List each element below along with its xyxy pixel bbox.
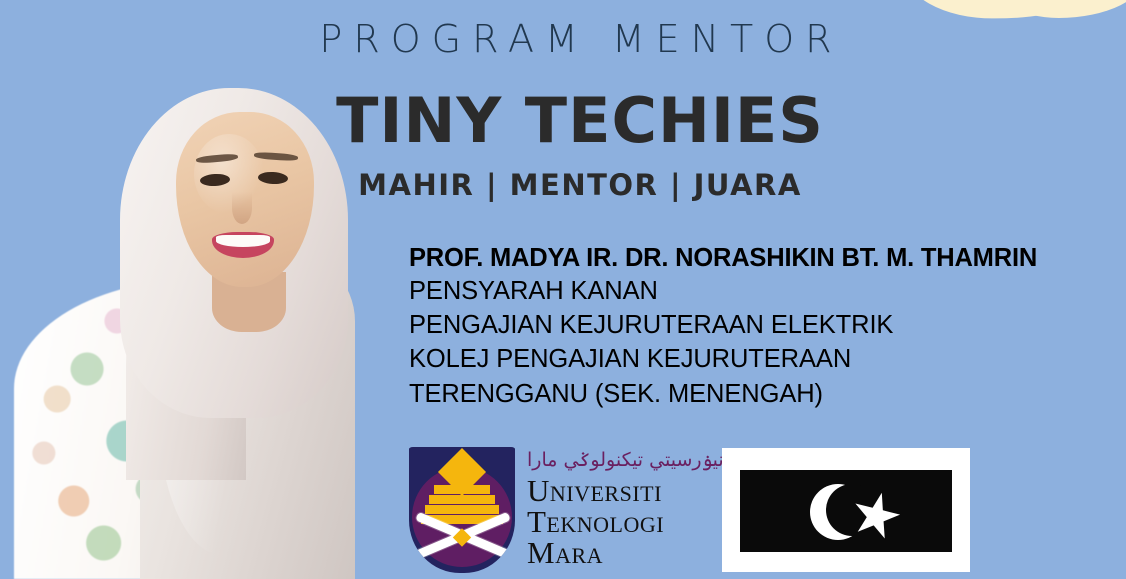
speaker-detail-line-1: PENSYARAH KANAN [409, 274, 1037, 308]
terengganu-flag-icon [740, 470, 952, 552]
uitm-shield-icon [409, 447, 515, 573]
uitm-step-2 [429, 495, 495, 504]
uitm-wordmark: Universiti Teknologi Mara [527, 475, 664, 568]
page-title: TINY TECHIES [300, 88, 860, 153]
speaker-detail-line-3: KOLEJ PENGAJIAN KEJURUTERAAN [409, 342, 1037, 376]
uitm-wordmark-line-3: Mara [527, 537, 664, 568]
portrait-nose [232, 192, 252, 224]
uitm-jawi-script: اونيۏرسيتي تيكنولوݢي مارا [527, 449, 738, 471]
terengganu-flag-frame [722, 448, 970, 572]
program-kicker: PROGRAM MENTOR [0, 17, 1126, 61]
portrait-teeth [216, 235, 270, 247]
speaker-detail-line-4: TERENGGANU (SEK. MENENGAH) [409, 377, 1037, 411]
uitm-logo: اونيۏرسيتي تيكنولوݢي مارا Universiti Tek… [409, 447, 721, 575]
speaker-info-block: PROF. MADYA IR. DR. NORASHIKIN BT. M. TH… [409, 244, 1037, 411]
uitm-gold-steps-icon [419, 455, 505, 517]
speaker-detail-line-2: PENGAJIAN KEJURUTERAAN ELEKTRIK [409, 308, 1037, 342]
poster-canvas: PROGRAM MENTOR TINY TECHIES MAHIR | MENT… [0, 0, 1126, 579]
program-tagline: MAHIR | MENTOR | JUARA [300, 168, 860, 202]
speaker-portrait [0, 0, 360, 579]
uitm-step-1 [434, 485, 490, 494]
speaker-name: PROF. MADYA IR. DR. NORASHIKIN BT. M. TH… [409, 244, 1037, 274]
crescent-icon [810, 484, 866, 540]
uitm-wordmark-line-1: Universiti [527, 475, 664, 506]
uitm-wordmark-line-2: Teknologi [527, 506, 664, 537]
